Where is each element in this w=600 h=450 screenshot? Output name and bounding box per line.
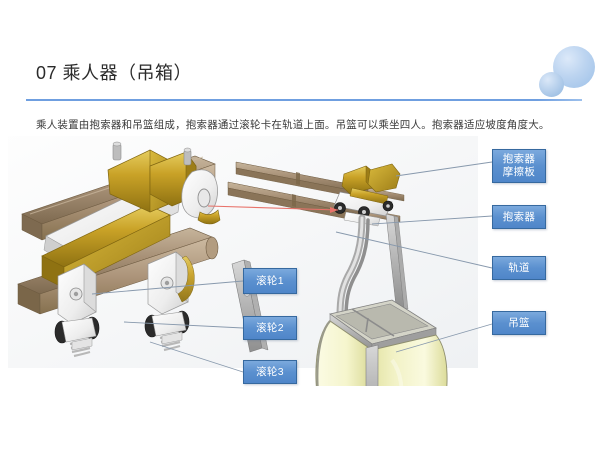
callout-roller-3-label: 滚轮3 <box>256 366 284 379</box>
callout-friction-plate[interactable]: 抱索器 摩擦板 <box>492 149 546 183</box>
callout-cabin-label: 吊篮 <box>508 317 530 330</box>
slide-caption: 乘人装置由抱索器和吊篮组成，抱索器通过滚轮卡在轨道上面。吊篮可以乘坐四人。抱索器… <box>36 117 576 132</box>
callout-friction-plate-line2: 摩擦板 <box>503 166 535 179</box>
page-title: 07 乘人器（吊箱） <box>36 59 192 85</box>
callout-track[interactable]: 轨道 <box>492 256 546 280</box>
callout-grip-label: 抱索器 <box>503 211 535 224</box>
callout-friction-plate-line1: 抱索器 <box>503 153 535 166</box>
callout-grip[interactable]: 抱索器 <box>492 205 546 229</box>
header-divider <box>26 99 582 101</box>
slide-root: 07 乘人器（吊箱） 乘人装置由抱索器和吊篮组成，抱索器通过滚轮卡在轨道上面。吊… <box>0 0 600 450</box>
callout-cabin[interactable]: 吊篮 <box>492 311 546 335</box>
decorative-circle-small-icon <box>539 72 564 97</box>
callout-roller-2-label: 滚轮2 <box>256 322 284 335</box>
callout-track-label: 轨道 <box>508 262 530 275</box>
callout-roller-2[interactable]: 滚轮2 <box>243 316 297 340</box>
callout-roller-3[interactable]: 滚轮3 <box>243 360 297 384</box>
callout-roller-1[interactable]: 滚轮1 <box>243 268 297 294</box>
callout-roller-1-label: 滚轮1 <box>256 275 284 288</box>
